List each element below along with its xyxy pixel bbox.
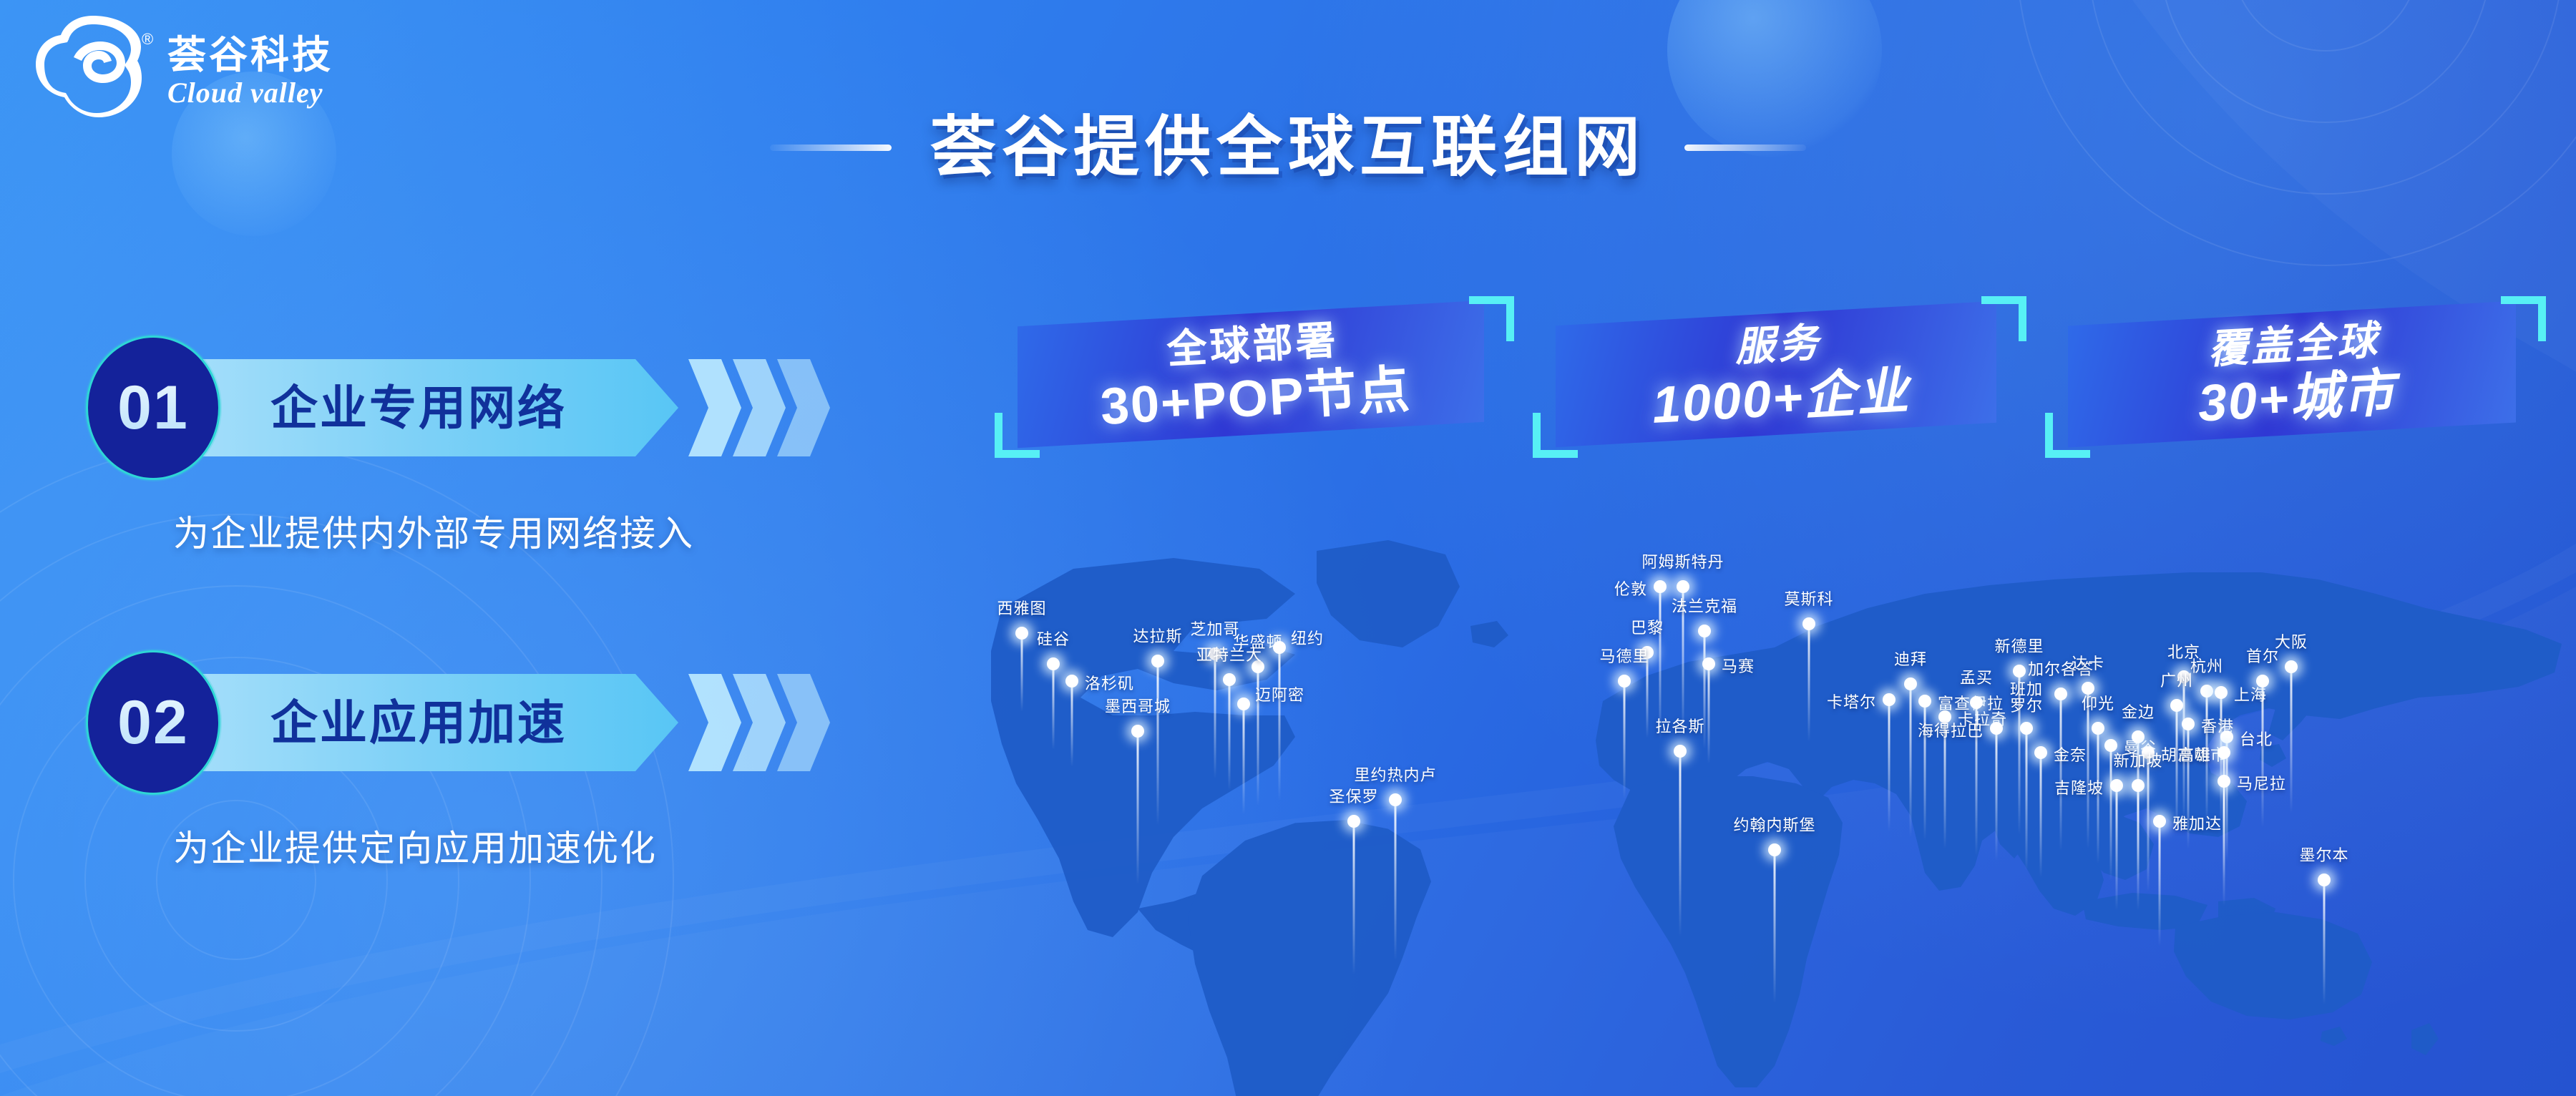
map-pin-label: 杭州 [2190, 654, 2223, 677]
stat-value-1: 30+POP节点 [1099, 362, 1413, 436]
map-pin-label: 迈阿密 [1255, 682, 1304, 705]
poster-canvas: ® 荟谷科技 Cloud valley 荟谷提供全球互联组网 01 企业专用网络… [0, 0, 2576, 1096]
pin-dot-icon [1015, 627, 1028, 640]
pin-dot-icon [1347, 815, 1360, 828]
stat-badges: 全球部署 30+POP节点 服务 1000+企业 覆盖全球 30+城市 [995, 286, 2546, 465]
stat-title-3: 覆盖全球 [2207, 319, 2381, 371]
map-pin-label: 台北 [2240, 727, 2273, 750]
map-pin-label: 法兰克福 [1672, 594, 1737, 617]
pin-beam [1021, 633, 1023, 712]
pin-dot-icon [1698, 625, 1711, 637]
pin-dot-icon [1223, 673, 1236, 686]
chevron-arrows-icon-01 [688, 359, 839, 456]
pin-dot-icon [2110, 779, 2123, 792]
pin-dot-icon [2218, 746, 2230, 759]
map-pin-label: 马尼拉 [2237, 771, 2286, 794]
pin-dot-icon [1654, 580, 1667, 593]
feature-band-02: 企业应用加速 [192, 674, 678, 771]
pin-beam [2262, 681, 2264, 828]
stat-badge-enterprises: 服务 1000+企业 [1533, 286, 2026, 465]
map-pin-label: 马赛 [1722, 654, 1755, 677]
map-pin-label: 芝加哥 [1190, 617, 1239, 640]
map-pin-label: 高雄 [2178, 743, 2211, 765]
pin-beam [2176, 705, 2178, 831]
brand-logo: ® 荟谷科技 Cloud valley [31, 13, 333, 120]
map-pin-label: 新德里 [1994, 634, 2044, 657]
pin-dot-icon [2054, 688, 2067, 700]
pin-dot-icon [1918, 695, 1931, 708]
pin-dot-icon [2200, 685, 2213, 698]
pin-dot-icon [2220, 730, 2233, 743]
map-pin-label: 巴黎 [1631, 615, 1664, 638]
map-pin-label: 拉各斯 [1655, 714, 1704, 737]
pin-dot-icon [2182, 718, 2195, 730]
map-pin-label: 西雅图 [997, 596, 1046, 619]
pin-dot-icon [1904, 677, 1917, 690]
pin-dot-icon [2132, 730, 2145, 743]
map-pin-label: 仰光 [2082, 691, 2114, 714]
map-pin-label: 约翰内斯堡 [1733, 813, 1815, 836]
map-pin-label: 大阪 [2275, 630, 2308, 652]
map-pin-label: 伦敦 [1614, 577, 1647, 600]
pin-beam [1053, 664, 1055, 750]
pin-beam [1071, 681, 1073, 767]
map-pin-label: 纽约 [1291, 626, 1324, 649]
stat-badge-cities: 覆盖全球 30+城市 [2045, 286, 2546, 465]
feature-number-badge-01: 01 [86, 336, 220, 480]
map-pin-label: 海得拉巴 [1918, 718, 1984, 741]
map-pin-label: 迪拜 [1894, 647, 1927, 670]
pin-dot-icon [1389, 793, 1402, 806]
pin-dot-icon [2170, 699, 2183, 712]
pin-dot-icon [1702, 657, 1715, 670]
pin-dot-icon [1883, 693, 1896, 706]
pin-beam [1888, 700, 1890, 832]
map-pin-label: 班加罗尔 [2010, 681, 2043, 714]
pin-beam [1279, 647, 1281, 801]
map-pin-label: 金边 [2122, 700, 2155, 723]
pin-dot-icon [1151, 655, 1164, 667]
pin-dot-icon [1677, 580, 1689, 593]
map-pin-label: 墨尔本 [2299, 843, 2348, 866]
pin-beam [1624, 681, 1626, 799]
map-pin-label: 亚特兰大 [1196, 642, 1262, 665]
pin-beam [1808, 624, 1810, 742]
pin-dot-icon [1065, 675, 1078, 688]
feature-number-02: 02 [117, 688, 189, 758]
pin-beam [2290, 667, 2293, 813]
pin-beam [2147, 753, 2150, 892]
map-pin-label: 洛杉矶 [1085, 671, 1134, 694]
pin-beam [1996, 728, 1998, 861]
pin-dot-icon [2020, 722, 2033, 735]
pin-beam [1157, 661, 1159, 826]
feature-label-01: 企业专用网络 [270, 384, 567, 431]
page-title-row: 荟谷提供全球互联组网 [0, 114, 2576, 180]
title-rule-left [770, 145, 892, 151]
map-pin-label: 马德里 [1599, 644, 1649, 667]
feature-label-02: 企业应用加速 [270, 699, 567, 746]
pin-beam [2040, 753, 2042, 878]
stat-value-3: 30+城市 [2197, 365, 2397, 432]
feature-number-01: 01 [117, 373, 189, 444]
pin-dot-icon [1273, 641, 1286, 654]
map-pins: 西雅图硅谷洛杉矶达拉斯芝加哥华盛顿纽约亚特兰大迈阿密墨西哥城里约热内卢圣保罗伦敦… [959, 501, 2576, 1096]
feature-number-badge-02: 02 [86, 650, 220, 795]
map-pin-label: 卡塔尔 [1827, 690, 1876, 713]
map-pin-label: 里约热内卢 [1354, 763, 1436, 786]
map-pin-label: 莫斯科 [1784, 587, 1833, 610]
pin-dot-icon [2318, 874, 2331, 886]
pin-dot-icon [1674, 745, 1687, 758]
pin-dot-icon [1131, 725, 1144, 738]
pin-beam [1214, 654, 1216, 779]
map-pin-label: 墨西哥城 [1105, 694, 1171, 717]
brand-name-cn: ® 荟谷科技 [167, 36, 333, 74]
feature-description-02: 为企业提供定向应用加速优化 [173, 820, 839, 871]
pin-beam [2026, 728, 2028, 871]
pin-beam [2159, 821, 2161, 946]
brand-name-en: Cloud valley [167, 79, 333, 107]
pin-dot-icon [2285, 660, 2298, 673]
pin-dot-icon [2218, 775, 2230, 788]
feature-item-02: 02 企业应用加速 为企业提供定向应用加速优化 [86, 651, 839, 871]
pin-beam [2116, 786, 2118, 911]
feature-description-01: 为企业提供内外部专用网络接入 [173, 505, 839, 557]
pin-beam [1353, 821, 1355, 975]
pin-dot-icon [2256, 675, 2269, 688]
map-pin-label: 孟买 [1960, 665, 1993, 688]
pin-beam [1708, 664, 1710, 764]
title-rule-right [1684, 145, 1806, 151]
map-pin-label: 雅加达 [2172, 811, 2222, 834]
pin-dot-icon [1768, 843, 1781, 856]
pin-dot-icon [2153, 815, 2166, 828]
chevron-arrows-icon-02 [688, 674, 839, 771]
world-map: 西雅图硅谷洛杉矶达拉斯芝加哥华盛顿纽约亚特兰大迈阿密墨西哥城里约热内卢圣保罗伦敦… [959, 501, 2576, 1096]
map-pin-label: 广州 [2160, 668, 2193, 691]
pin-beam [1229, 680, 1231, 791]
pin-beam [1395, 800, 1397, 961]
pin-dot-icon [1618, 675, 1631, 688]
map-pin-label: 硅谷 [1037, 627, 1070, 650]
feature-band-01: 企业专用网络 [192, 359, 678, 456]
pin-beam [1243, 704, 1245, 815]
stat-title-1: 全球部署 [1166, 319, 1340, 371]
pin-beam [2137, 786, 2140, 911]
registered-mark-icon: ® [142, 31, 156, 47]
pin-dot-icon [1237, 698, 1250, 710]
map-pin-label: 新加坡 [2113, 748, 2162, 771]
map-pin-label: 阿姆斯特丹 [1641, 549, 1724, 572]
pin-dot-icon [2013, 665, 2026, 677]
cloud-logo-icon [31, 13, 155, 120]
feature-item-01: 01 企业专用网络 为企业提供内外部专用网络接入 [86, 336, 839, 557]
page-title: 荟谷提供全球互联组网 [930, 114, 1646, 180]
pin-beam [1137, 731, 1139, 885]
map-pin-label: 达拉斯 [1133, 624, 1182, 647]
stat-badge-pop-nodes: 全球部署 30+POP节点 [995, 286, 1514, 465]
pin-dot-icon [1802, 617, 1815, 630]
pin-dot-icon [1970, 696, 1983, 709]
pin-dot-icon [1047, 657, 1060, 670]
map-pin-label: 吉隆坡 [2054, 775, 2104, 798]
pin-dot-icon [2034, 746, 2047, 759]
pin-beam [1774, 850, 1776, 1004]
pin-beam [2223, 781, 2225, 906]
pin-beam [2110, 745, 2112, 881]
pin-dot-icon [2132, 779, 2145, 792]
pin-dot-icon [2215, 686, 2228, 699]
pin-beam [1679, 751, 1682, 937]
map-pin-label: 金奈 [2054, 743, 2087, 765]
map-pin-label: 达卡 [2072, 651, 2104, 674]
pin-dot-icon [1990, 722, 2003, 735]
pin-beam [1910, 684, 1912, 838]
stat-value-2: 1000+企业 [1651, 363, 1911, 434]
stat-title-2: 服务 [1734, 322, 1822, 368]
pin-beam [2060, 694, 2062, 851]
pin-beam [2323, 880, 2326, 1005]
map-pin-label: 圣保罗 [1329, 784, 1378, 807]
pin-dot-icon [2092, 722, 2104, 735]
